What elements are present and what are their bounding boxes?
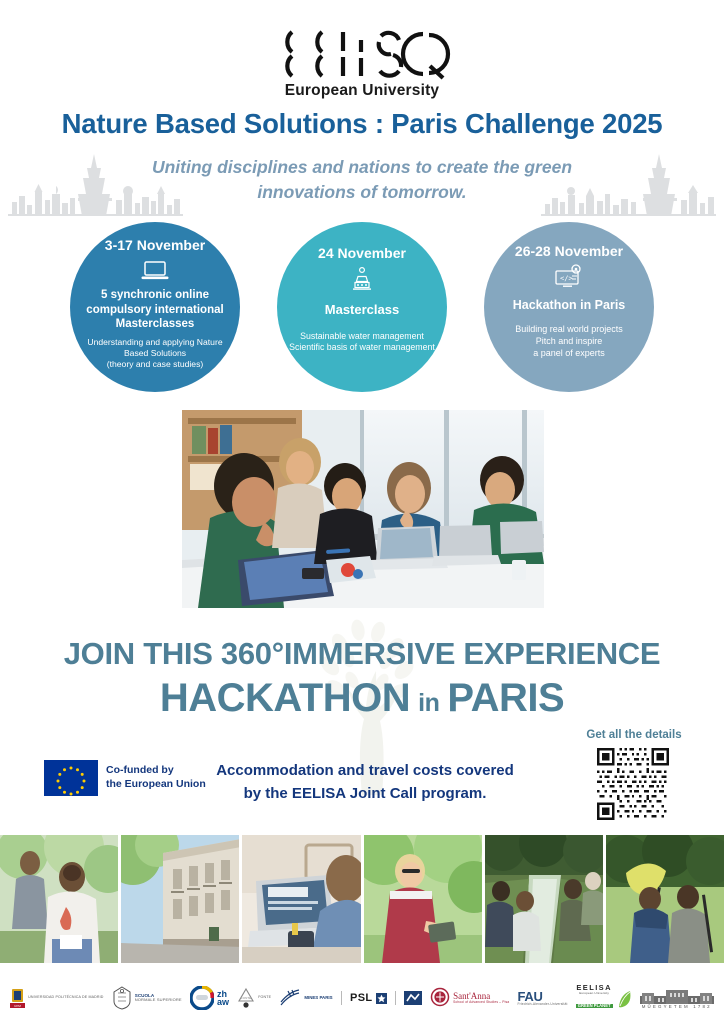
eu-flag-icon xyxy=(44,760,98,796)
partner-logo-ensae xyxy=(404,991,422,1005)
callout-paris: PARIS xyxy=(447,676,564,720)
code-monitor-gear-icon: </> xyxy=(552,264,586,290)
strip-photo-stream-sampling xyxy=(485,835,603,963)
step-body: Sustainable water management Scientific … xyxy=(279,331,445,354)
leaf-icon xyxy=(616,988,632,1008)
strip-photo-laptop-work xyxy=(242,835,360,963)
step-heading: Hackathon in Paris xyxy=(501,298,638,314)
svg-text:UPM: UPM xyxy=(14,1004,21,1008)
partner-sub: School of Advanced Studies – Pisa xyxy=(453,1001,509,1004)
step-date: 24 November xyxy=(318,246,406,261)
step-heading: Masterclass xyxy=(313,302,411,318)
partner-name: MINES PARIS xyxy=(304,996,332,1001)
laptop-icon xyxy=(140,258,170,284)
partner-logo-fonte: FONTE FONTE xyxy=(237,987,271,1009)
partner-logo-psl: PSL xyxy=(350,992,387,1004)
partner-logo-fau: FAU Friedrich-Alexander-Universität xyxy=(517,990,567,1006)
partner-name: UNIVERSIDAD POLITÉCNICA DE MADRID xyxy=(28,996,103,1000)
step-date: 26-28 November xyxy=(515,244,623,259)
step-body: Building real world projects Pitch and i… xyxy=(505,324,633,360)
callout-hackathon: HACKATHON xyxy=(160,676,410,720)
accommodation-line-2: by the EELISA Joint Call program. xyxy=(170,783,560,806)
step-body: Understanding and applying Nature Based … xyxy=(70,337,240,371)
partner-sub: GREEN PLANET xyxy=(576,1004,613,1008)
logo-subtitle: European University xyxy=(0,82,724,100)
qr-code[interactable] xyxy=(593,748,673,820)
page-title: Nature Based Solutions : Paris Challenge… xyxy=(0,108,724,140)
poster-root: European University Nature Based Solutio… xyxy=(0,0,724,1024)
partner-name: FONTE xyxy=(258,996,271,1000)
program-step-masterclass: 24 November Masterclass Sustainable wate… xyxy=(277,222,447,392)
hero-photo xyxy=(182,410,544,608)
partner-logo-upm: UPM UNIVERSIDAD POLITÉCNICA DE MADRID xyxy=(10,988,103,1008)
program-step-hackathon: 26-28 November </> Hackathon in Paris Bu… xyxy=(484,222,654,392)
svg-text:</>: </> xyxy=(560,275,573,283)
partner-logos: UPM UNIVERSIDAD POLITÉCNICA DE MADRID SC… xyxy=(0,976,724,1020)
strip-photo-butterfly-nets xyxy=(606,835,724,963)
callout-line-2: HACKATHONinPARIS xyxy=(0,676,724,721)
partner-logo-santanna: Sant'Anna School of Advanced Studies – P… xyxy=(430,987,509,1009)
eelisa-logo: European University xyxy=(0,28,724,100)
partner-name: PSL xyxy=(350,992,373,1004)
partner-logo-zhaw: zh aw xyxy=(190,986,229,1010)
callout-in: in xyxy=(418,689,439,717)
partner-logo-mines-paris: MINES PARIS xyxy=(279,988,332,1008)
accommodation-line-1: Accommodation and travel costs covered xyxy=(170,760,560,783)
step-date: 3-17 November xyxy=(105,238,205,253)
program-step-masterclasses: 3-17 November 5 synchronic online compul… xyxy=(70,222,240,392)
partner-logo-muegyetem: MŰEGYETEM 1782 xyxy=(640,988,714,1009)
partner-sub: NORMALE SUPERIORE xyxy=(135,998,182,1002)
eelisa-wordmark-icon xyxy=(273,28,451,80)
star-icon xyxy=(376,993,387,1004)
logo-divider xyxy=(395,991,396,1005)
logo-divider xyxy=(341,991,342,1005)
partner-logo-eelisa-green-planet: EELISA European University GREEN PLANET xyxy=(576,984,632,1011)
svg-text:FONTE: FONTE xyxy=(241,996,251,1000)
page-tagline: Uniting disciplines and nations to creat… xyxy=(112,155,612,205)
partner-sub: Friedrich-Alexander-Universität xyxy=(517,1003,567,1006)
partner-logo-sns: SCUOLA NORMALE SUPERIORE xyxy=(112,986,182,1010)
strip-photo-paris-street xyxy=(121,835,239,963)
strip-photo-field-notes xyxy=(364,835,482,963)
photo-strip xyxy=(0,835,724,963)
step-heading: 5 synchronic online compulsory internati… xyxy=(70,288,240,331)
accommodation-note: Accommodation and travel costs covered b… xyxy=(170,760,560,805)
qr-label: Get all the details xyxy=(560,729,708,741)
lecturer-podium-icon xyxy=(349,266,375,292)
strip-photo-students-outdoors xyxy=(0,835,118,963)
partner-name: FAU xyxy=(517,990,567,1003)
partner-name: MŰEGYETEM 1782 xyxy=(642,1004,712,1009)
callout-line-1: JOIN THIS 360°IMMERSIVE EXPERIENCE xyxy=(0,636,724,672)
partner-sub: aw xyxy=(217,998,229,1006)
